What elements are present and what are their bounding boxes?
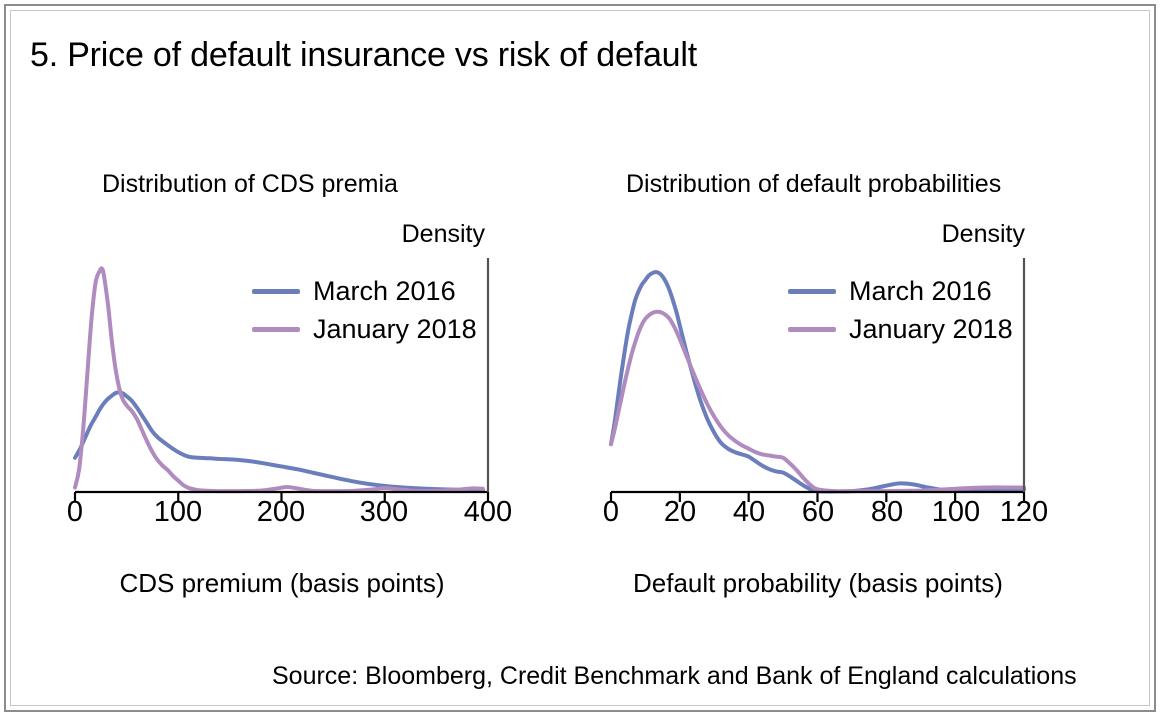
legend-swatch-january-2018 — [788, 327, 836, 332]
panel-default-probabilities: Distribution of default probabilities De… — [598, 160, 1068, 610]
x-tick-label: 100 — [154, 496, 202, 529]
legend-label-march-2016: March 2016 — [849, 276, 992, 307]
series-line-march-2016 — [75, 392, 483, 490]
x-tick-label: 100 — [932, 496, 980, 529]
legend-swatch-march-2016 — [788, 289, 836, 294]
x-tick-label: 0 — [603, 496, 619, 529]
legend-item[interactable]: January 2018 — [788, 310, 1013, 348]
source-note: Source: Bloomberg, Credit Benchmark and … — [272, 662, 1077, 691]
legend-right: March 2016 January 2018 — [788, 272, 1013, 348]
legend-label-january-2018: January 2018 — [849, 314, 1013, 345]
legend-swatch-march-2016 — [252, 289, 300, 294]
legend-label-march-2016: March 2016 — [313, 276, 456, 307]
page-title: 5. Price of default insurance vs risk of… — [30, 36, 697, 75]
legend-label-january-2018: January 2018 — [313, 314, 477, 345]
x-tick-label: 60 — [802, 496, 834, 529]
x-tick-label: 300 — [360, 496, 408, 529]
legend-left: March 2016 January 2018 — [252, 272, 477, 348]
figure-container: 5. Price of default insurance vs risk of… — [0, 0, 1160, 716]
x-tick-label: 200 — [257, 496, 305, 529]
x-axis-caption-right: Default probability (basis points) — [633, 568, 1003, 599]
x-tick-label: 40 — [733, 496, 765, 529]
x-tick-label: 400 — [464, 496, 512, 529]
x-tick-label: 0 — [67, 496, 83, 529]
x-tick-label: 120 — [1000, 496, 1048, 529]
x-tick-label: 20 — [664, 496, 696, 529]
legend-item[interactable]: March 2016 — [788, 272, 1013, 310]
legend-item[interactable]: March 2016 — [252, 272, 477, 310]
legend-item[interactable]: January 2018 — [252, 310, 477, 348]
legend-swatch-january-2018 — [252, 327, 300, 332]
x-axis-caption-left: CDS premium (basis points) — [119, 568, 444, 599]
x-tick-label: 80 — [871, 496, 903, 529]
panel-cds-premia: Distribution of CDS premia Density March… — [62, 160, 532, 610]
